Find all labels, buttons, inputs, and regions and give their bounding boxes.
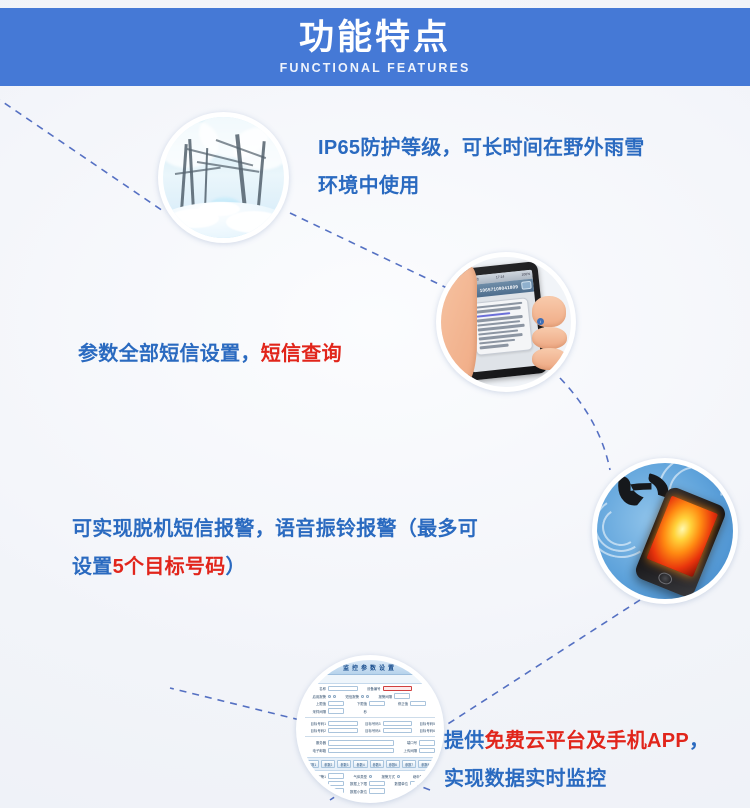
feature-label-ip65: IP65防护等级，可长时间在野外雨雪 环境中使用	[318, 129, 718, 205]
form-input[interactable]	[369, 788, 385, 793]
feature-label-ip65-line1: IP65防护等级，可长时间在野外雨雪	[318, 137, 645, 159]
radio-button[interactable]	[361, 695, 364, 698]
sms-text-line	[479, 343, 509, 348]
form-input[interactable]	[394, 693, 410, 698]
snow-drift	[226, 211, 282, 233]
form-label: 名称	[305, 686, 326, 691]
form-label: 目标号码1	[305, 721, 326, 726]
form-input[interactable]	[383, 721, 413, 726]
platform-tab[interactable]: 参数8	[418, 760, 432, 768]
radio-button[interactable]	[369, 775, 372, 778]
form-row: 启用报警 短信报警 报警间隔	[305, 693, 435, 698]
feature-label-sms-blue: 参数全部短信设置，	[78, 343, 261, 365]
form-label: 报警3	[305, 789, 326, 794]
platform-tab[interactable]: 参数1	[305, 760, 319, 768]
form-input[interactable]	[410, 701, 426, 706]
form-row: 报警3 数据小数位	[305, 788, 435, 793]
platform-tab[interactable]: 参数4	[353, 760, 367, 768]
form-row: 采样间隔 秒	[305, 708, 435, 713]
form-label: 服务器	[305, 740, 326, 745]
form-label: 数据上下限	[346, 781, 367, 786]
form-label: 目标号码5	[414, 721, 435, 726]
form-input[interactable]	[328, 721, 358, 726]
form-label: 修正值	[387, 701, 408, 706]
right-finger	[532, 348, 567, 370]
form-input[interactable]	[328, 701, 344, 706]
form-row: 目标号码2 目标号码4 目标号码6	[305, 728, 435, 733]
form-input[interactable]	[419, 748, 435, 753]
sms-scene-illustration: 中国移动 17:14 100% 10657109041809	[441, 257, 571, 387]
radio-button[interactable]	[397, 775, 400, 778]
form-label: 采样间隔	[305, 709, 326, 714]
form-label: 设备编号	[360, 686, 381, 691]
form-row: 报警2 数据上下限 数据单位	[305, 781, 435, 786]
functional-features-page: 功能特点 FUNCTIONAL FEATURES	[0, 0, 750, 808]
ringing-alarm-phone-illustration	[597, 463, 733, 599]
home-button-icon	[656, 570, 673, 586]
monitoring-platform-software-screenshot: 监控参数设置 【系统】 名称 设备编号 查询 启用报警	[301, 660, 439, 798]
form-row: 名称 设备编号 查询	[305, 686, 435, 691]
form-row: 电子邮箱 上传间隔	[305, 748, 435, 753]
feature-image-snowy-forest[interactable]	[158, 112, 289, 243]
platform-tab[interactable]: 参数3	[337, 760, 351, 768]
form-label: 报警间隔	[371, 694, 392, 699]
form-label: 短信报警	[338, 694, 359, 699]
feature-label-alarm-line1: 可实现脱机短信报警，语音振铃报警（最多可	[72, 518, 478, 540]
form-input-highlighted[interactable]	[383, 686, 413, 691]
feature-label-cloud-line2: 实现数据实时监控	[444, 768, 606, 790]
feature-image-platform-software[interactable]: 监控参数设置 【系统】 名称 设备编号 查询 启用报警	[296, 655, 444, 803]
form-divider	[305, 736, 435, 737]
feature-label-cloud-pre: 提供	[444, 730, 485, 752]
platform-tab[interactable]: 参数7	[402, 760, 416, 768]
left-hand	[441, 265, 477, 385]
dash-line-snow-to-sms	[290, 213, 447, 288]
sms-send-button[interactable]	[521, 281, 532, 290]
feature-label-alarm-line2-pre: 设置	[72, 556, 113, 578]
radio-button[interactable]	[366, 695, 369, 698]
feature-label-alarm-line2-post: ）	[226, 556, 246, 578]
form-row: 上限值 下限值 修正值	[305, 701, 435, 706]
form-row: 服务器 端口号	[305, 740, 435, 745]
form-input[interactable]	[369, 781, 385, 786]
hand-holding-phone-sms-photo: 中国移动 17:14 100% 10657109041809	[441, 257, 571, 387]
snowy-forest-photo	[163, 117, 284, 238]
platform-window: 监控参数设置 【系统】 名称 设备编号 查询 启用报警	[301, 660, 439, 798]
platform-tab[interactable]: 参数6	[386, 760, 400, 768]
platform-tab[interactable]: 参数5	[370, 760, 384, 768]
form-label: 数据小数位	[346, 789, 367, 794]
platform-window-title: 监控参数设置	[343, 663, 397, 672]
dash-line-sms-to-alarm	[560, 378, 610, 470]
form-label: 目标号码3	[360, 721, 381, 726]
form-label: 上传间隔	[396, 748, 417, 753]
form-label: 目标号码4	[360, 728, 381, 733]
form-label: 秒	[346, 709, 367, 714]
page-title: 功能特点	[299, 18, 451, 58]
radio-button[interactable]	[333, 695, 336, 698]
platform-tab-strip: 参数1 参数2 参数3 参数4 参数5 参数6 参数7 参数8	[301, 757, 439, 771]
dash-line-platform-to-sms-left	[170, 688, 300, 720]
radio-button[interactable]	[328, 695, 331, 698]
page-header-banner: 功能特点 FUNCTIONAL FEATURES	[0, 8, 750, 86]
feature-label-sms-red: 短信查询	[261, 343, 342, 365]
form-input[interactable]	[419, 740, 435, 745]
platform-window-titlebar: 监控参数设置	[301, 660, 439, 675]
form-input[interactable]	[328, 728, 358, 733]
platform-breadcrumb-label: 【系统】	[305, 677, 319, 682]
form-input[interactable]	[369, 701, 385, 706]
sms-message-bubble	[470, 297, 533, 356]
form-label: 报警方式	[374, 774, 395, 779]
form-input[interactable]	[328, 788, 344, 793]
platform-form-body: 名称 设备编号 查询 启用报警 短信报警 报警间隔	[301, 684, 439, 757]
form-label: 报警2	[305, 781, 326, 786]
feature-label-cloud-post: ，	[689, 730, 709, 752]
feature-label-alarm-line2-red: 5个目标号码	[113, 556, 226, 578]
platform-tab[interactable]: 参数2	[321, 760, 335, 768]
platform-breadcrumb-row: 【系统】	[301, 675, 439, 684]
form-label: 查询	[414, 686, 435, 691]
form-row: 报警1 气体类型 报警方式 继电器	[305, 773, 435, 778]
feature-image-sms-phone[interactable]: 中国移动 17:14 100% 10657109041809	[436, 252, 576, 392]
feature-label-alarm: 可实现脱机短信报警，语音振铃报警（最多可 设置5个目标号码）	[72, 510, 617, 586]
feature-label-sms: 参数全部短信设置，短信查询	[78, 335, 438, 373]
form-input[interactable]	[328, 781, 344, 786]
snow-scene-illustration	[163, 117, 284, 238]
form-label: 数据单位	[387, 781, 408, 786]
form-input[interactable]	[328, 740, 394, 745]
right-finger	[532, 327, 567, 349]
form-input[interactable]	[328, 773, 344, 778]
form-input[interactable]	[328, 686, 358, 691]
form-label: 目标号码2	[305, 728, 326, 733]
feature-label-ip65-line2: 环境中使用	[318, 175, 420, 197]
platform-lower-panel: 报警1 气体类型 报警方式 继电器 报警2 数据上下限 数据单位	[301, 771, 439, 797]
page-subtitle: FUNCTIONAL FEATURES	[280, 59, 471, 77]
form-input[interactable]	[328, 748, 394, 753]
feature-label-cloud-red: 免费云平台及手机APP	[485, 730, 689, 752]
form-label: 电子邮箱	[305, 748, 326, 753]
form-label: 下限值	[346, 701, 367, 706]
form-input[interactable]	[383, 728, 413, 733]
form-row: 目标号码1 目标号码3 目标号码5	[305, 721, 435, 726]
form-divider	[305, 717, 435, 718]
form-label: 目标号码6	[414, 728, 435, 733]
form-label: 端口号	[396, 740, 417, 745]
info-dot-icon: i	[537, 318, 544, 325]
form-label: 启用报警	[305, 694, 326, 699]
alarm-scene-illustration	[597, 463, 733, 599]
form-label: 气体类型	[346, 774, 367, 779]
form-label: 报警1	[305, 774, 326, 779]
form-label: 上限值	[305, 701, 326, 706]
form-input[interactable]	[410, 781, 426, 786]
form-label: 继电器	[402, 774, 423, 779]
feature-label-cloud: 提供免费云平台及手机APP， 实现数据实时监控	[444, 722, 744, 798]
sms-sender-number: 10657109041809	[479, 284, 518, 293]
form-input[interactable]	[328, 708, 344, 713]
dash-line-intro	[0, 96, 166, 213]
